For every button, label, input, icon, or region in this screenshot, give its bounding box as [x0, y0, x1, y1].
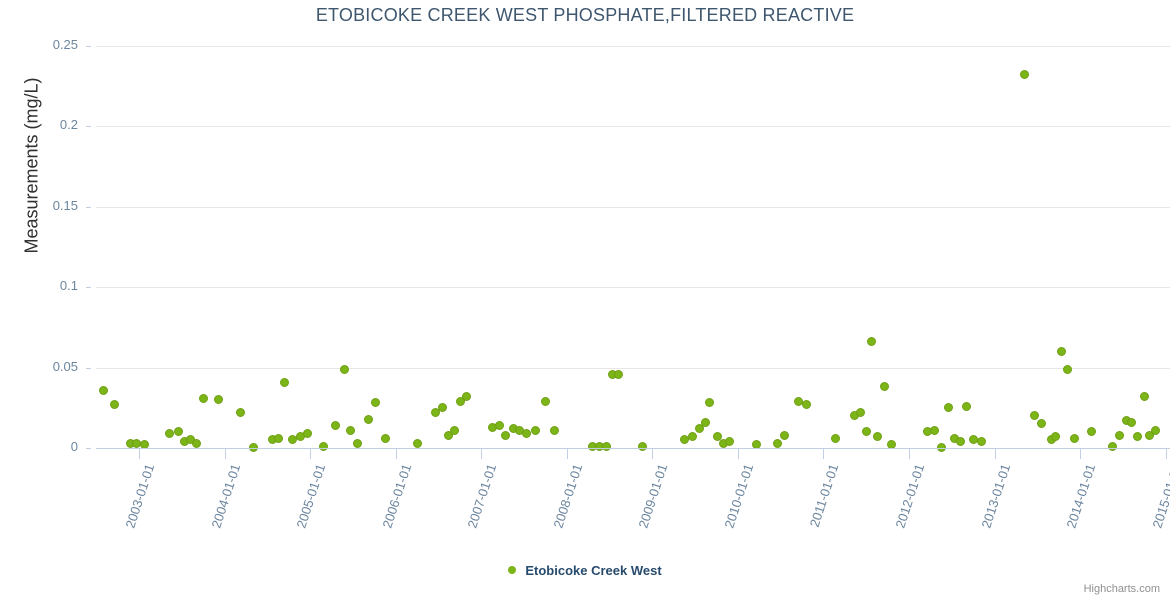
data-point[interactable]	[1087, 427, 1096, 436]
credits-link[interactable]: Highcharts.com	[1084, 583, 1160, 595]
x-axis-tick-label: 2005-01-01	[288, 462, 328, 547]
x-axis-tick-mark	[310, 449, 311, 459]
data-point[interactable]	[1070, 434, 1079, 443]
x-axis-tick-mark	[567, 449, 568, 459]
data-point[interactable]	[880, 382, 889, 391]
x-axis-tick-label: 2015-01-01	[1144, 462, 1170, 547]
legend-item-etobicoke-creek-west[interactable]: Etobicoke Creek West	[508, 562, 661, 578]
y-axis-tick-label: 0.05	[0, 359, 78, 374]
gridline	[96, 287, 1170, 288]
data-point[interactable]	[701, 418, 710, 427]
gridline	[96, 126, 1170, 127]
x-axis-tick-mark	[396, 449, 397, 459]
legend-marker-icon	[508, 566, 516, 574]
y-axis-tick-mark	[86, 46, 91, 47]
data-point[interactable]	[602, 442, 611, 451]
x-axis-tick-mark	[225, 449, 226, 459]
x-axis-tick-mark	[909, 449, 910, 459]
data-point[interactable]	[1108, 442, 1117, 451]
data-point[interactable]	[873, 432, 882, 441]
data-point[interactable]	[1133, 432, 1142, 441]
data-point[interactable]	[274, 434, 283, 443]
data-point[interactable]	[381, 434, 390, 443]
x-axis-tick-label: 2013-01-01	[973, 462, 1013, 547]
data-point[interactable]	[541, 397, 550, 406]
x-axis-tick-mark	[1080, 449, 1081, 459]
data-point[interactable]	[831, 434, 840, 443]
data-point[interactable]	[199, 394, 208, 403]
data-point[interactable]	[110, 400, 119, 409]
data-point[interactable]	[867, 337, 876, 346]
data-point[interactable]	[1037, 419, 1046, 428]
data-point[interactable]	[956, 437, 965, 446]
data-point[interactable]	[165, 429, 174, 438]
plot-area	[96, 46, 1170, 448]
data-point[interactable]	[319, 442, 328, 451]
y-axis-tick-mark	[86, 287, 91, 288]
data-point[interactable]	[977, 437, 986, 446]
x-axis-tick-mark	[652, 449, 653, 459]
data-point[interactable]	[1140, 392, 1149, 401]
x-axis-tick-mark	[823, 449, 824, 459]
x-axis-tick-label: 2004-01-01	[203, 462, 243, 547]
data-point[interactable]	[930, 426, 939, 435]
y-axis-tick-label: 0	[0, 439, 78, 454]
data-point[interactable]	[1115, 431, 1124, 440]
data-point[interactable]	[688, 432, 697, 441]
data-point[interactable]	[450, 426, 459, 435]
data-point[interactable]	[1057, 347, 1066, 356]
y-axis-tick-mark	[86, 126, 91, 127]
data-point[interactable]	[371, 398, 380, 407]
data-point[interactable]	[174, 427, 183, 436]
gridline	[96, 46, 1170, 47]
data-point[interactable]	[856, 408, 865, 417]
data-point[interactable]	[802, 400, 811, 409]
x-axis-tick-mark	[1166, 449, 1167, 459]
y-axis-tick-label: 0.25	[0, 37, 78, 52]
x-axis-tick-label: 2014-01-01	[1058, 462, 1098, 547]
x-axis-tick-label: 2008-01-01	[545, 462, 585, 547]
data-point[interactable]	[413, 439, 422, 448]
data-point[interactable]	[1030, 411, 1039, 420]
data-point[interactable]	[340, 365, 349, 374]
y-axis-tick-mark	[86, 448, 91, 449]
x-axis-line	[96, 448, 1170, 449]
legend-item-label: Etobicoke Creek West	[525, 563, 661, 578]
data-point[interactable]	[1051, 432, 1060, 441]
data-point[interactable]	[346, 426, 355, 435]
data-point[interactable]	[1151, 426, 1160, 435]
chart-legend: Etobicoke Creek West	[0, 562, 1170, 578]
data-point[interactable]	[236, 408, 245, 417]
x-axis-tick-mark	[995, 449, 996, 459]
data-point[interactable]	[214, 395, 223, 404]
y-axis-tick-label: 0.1	[0, 278, 78, 293]
data-point[interactable]	[1020, 70, 1029, 79]
x-axis-tick-mark	[139, 449, 140, 459]
data-point[interactable]	[495, 421, 504, 430]
x-axis-tick-label: 2003-01-01	[117, 462, 157, 547]
y-axis-tick-mark	[86, 368, 91, 369]
data-point[interactable]	[780, 431, 789, 440]
data-point[interactable]	[773, 439, 782, 448]
x-axis-tick-label: 2006-01-01	[374, 462, 414, 547]
data-point[interactable]	[705, 398, 714, 407]
data-point[interactable]	[1063, 365, 1072, 374]
data-point[interactable]	[962, 402, 971, 411]
data-point[interactable]	[944, 403, 953, 412]
x-axis-tick-mark	[738, 449, 739, 459]
gridline	[96, 207, 1170, 208]
y-axis-tick-mark	[86, 207, 91, 208]
data-point[interactable]	[364, 415, 373, 424]
data-point[interactable]	[531, 426, 540, 435]
y-axis-tick-label: 0.2	[0, 117, 78, 132]
data-point[interactable]	[462, 392, 471, 401]
data-point[interactable]	[638, 442, 647, 451]
x-axis-tick-label: 2007-01-01	[459, 462, 499, 547]
x-axis-tick-label: 2010-01-01	[716, 462, 756, 547]
highcharts-container: ETOBICOKE CREEK WEST PHOSPHATE,FILTERED …	[0, 0, 1170, 600]
data-point[interactable]	[438, 403, 447, 412]
y-axis-tick-label: 0.15	[0, 198, 78, 213]
x-axis-tick-label: 2012-01-01	[887, 462, 927, 547]
data-point[interactable]	[501, 431, 510, 440]
data-point[interactable]	[725, 437, 734, 446]
data-point[interactable]	[1127, 418, 1136, 427]
x-axis-tick-label: 2011-01-01	[801, 462, 841, 547]
x-axis-tick-label: 2009-01-01	[630, 462, 670, 547]
gridline	[96, 368, 1170, 369]
chart-title: ETOBICOKE CREEK WEST PHOSPHATE,FILTERED …	[0, 5, 1170, 26]
data-point[interactable]	[550, 426, 559, 435]
data-point[interactable]	[331, 421, 340, 430]
x-axis-tick-mark	[481, 449, 482, 459]
data-point[interactable]	[192, 439, 201, 448]
data-point[interactable]	[614, 370, 623, 379]
data-point[interactable]	[99, 386, 108, 395]
data-point[interactable]	[280, 378, 289, 387]
data-point[interactable]	[303, 429, 312, 438]
data-point[interactable]	[353, 439, 362, 448]
data-point[interactable]	[862, 427, 871, 436]
